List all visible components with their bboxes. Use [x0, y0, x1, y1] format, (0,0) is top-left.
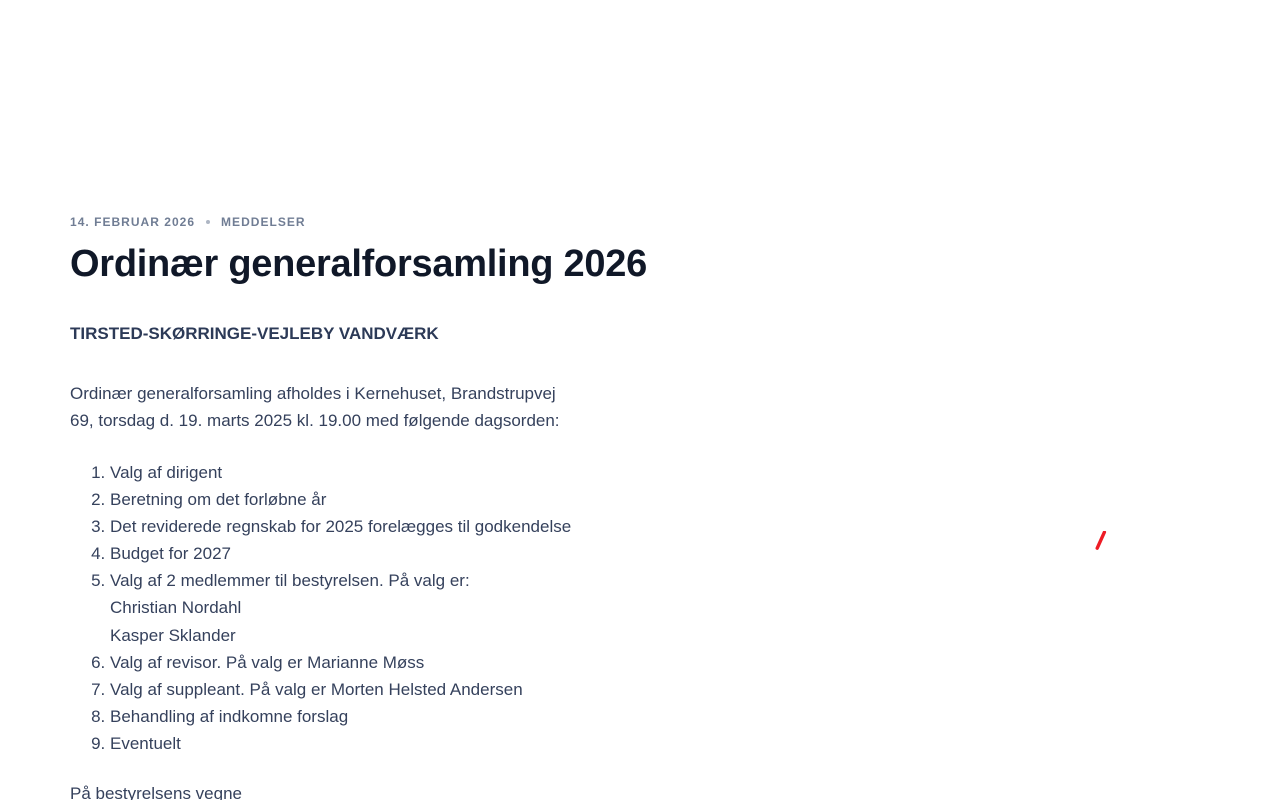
agenda-item-text: Det reviderede regnskab for 2025 forelæg…: [110, 517, 571, 536]
agenda-item: Valg af dirigent: [110, 459, 1210, 486]
dot-separator-icon: [206, 220, 210, 224]
agenda-item-text: Valg af dirigent: [110, 463, 222, 482]
agenda-item-text: Valg af suppleant. På valg er Morten Hel…: [110, 680, 523, 699]
agenda-item-text: Behandling af indkomne forslag: [110, 707, 348, 726]
top-whitespace: [0, 0, 1280, 215]
agenda-item: Valg af 2 medlemmer til bestyrelsen. På …: [110, 567, 1210, 649]
intro-paragraph: Ordinær generalforsamling afholdes i Ker…: [70, 380, 570, 434]
page-title: Ordinær generalforsamling 2026: [70, 243, 1210, 286]
article-page: 14. FEBRUAR 2026 MEDDELSER Ordinær gener…: [0, 0, 1280, 800]
agenda-item: Budget for 2027: [110, 540, 1210, 567]
agenda-item: Eventuelt: [110, 730, 1210, 757]
post-date: 14. FEBRUAR 2026: [70, 215, 195, 229]
agenda-list: Valg af dirigentBeretning om det forløbn…: [70, 459, 1210, 758]
agenda-item: Beretning om det forløbne år: [110, 486, 1210, 513]
agenda-item-text: Valg af 2 medlemmer til bestyrelsen. På …: [110, 571, 470, 590]
agenda-item: Valg af revisor. På valg er Marianne Møs…: [110, 649, 1210, 676]
agenda-item-text: Eventuelt: [110, 734, 181, 753]
agenda-item-text: Beretning om det forløbne år: [110, 490, 326, 509]
closing-block: På bestyrelsens vegne Flemming Møller: [70, 780, 1210, 800]
agenda-item: Det reviderede regnskab for 2025 forelæg…: [110, 513, 1210, 540]
agenda-item-text: Valg af revisor. På valg er Marianne Møs…: [110, 653, 424, 672]
agenda-item: Behandling af indkomne forslag: [110, 703, 1210, 730]
agenda-item-subline: Kasper Sklander: [110, 622, 1210, 649]
article-body: 14. FEBRUAR 2026 MEDDELSER Ordinær gener…: [0, 215, 1280, 800]
entry-meta: 14. FEBRUAR 2026 MEDDELSER: [70, 215, 1210, 229]
entry-content: TIRSTED-SKØRRINGE-VEJLEBY VANDVÆRK Ordin…: [70, 320, 1210, 800]
agenda-item-text: Budget for 2027: [110, 544, 231, 563]
agenda-item: Valg af suppleant. På valg er Morten Hel…: [110, 676, 1210, 703]
agenda-item-subline: Christian Nordahl: [110, 594, 1210, 621]
closing-line-1: På bestyrelsens vegne: [70, 780, 1210, 800]
organization-name: TIRSTED-SKØRRINGE-VEJLEBY VANDVÆRK: [70, 320, 1210, 347]
post-category-link[interactable]: MEDDELSER: [221, 215, 306, 229]
